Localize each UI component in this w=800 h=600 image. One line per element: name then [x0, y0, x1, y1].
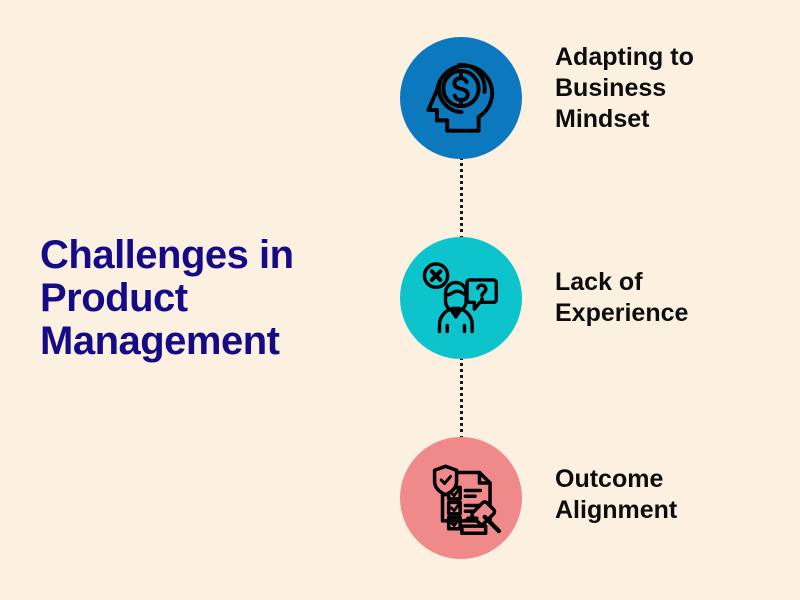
person-with-question-bubble-icon	[418, 255, 504, 341]
node-circle-outcome-alignment[interactable]	[400, 437, 522, 559]
connector-line-2	[460, 356, 463, 440]
infographic-canvas: Challenges in Product Management Adap	[0, 0, 800, 600]
checklist-shield-gavel-icon	[417, 454, 505, 542]
connector-line-1	[460, 156, 463, 240]
node-label-adapting-to-business-mindset: Adapting to Business Mindset	[555, 42, 795, 135]
node-circle-adapting-to-business-mindset[interactable]	[400, 37, 522, 159]
node-label-lack-of-experience: Lack of Experience	[555, 267, 795, 329]
page-title: Challenges in Product Management	[40, 234, 370, 363]
node-circle-lack-of-experience[interactable]	[400, 237, 522, 359]
node-label-outcome-alignment: Outcome Alignment	[555, 464, 795, 526]
head-with-dollar-sign-icon	[418, 55, 504, 141]
